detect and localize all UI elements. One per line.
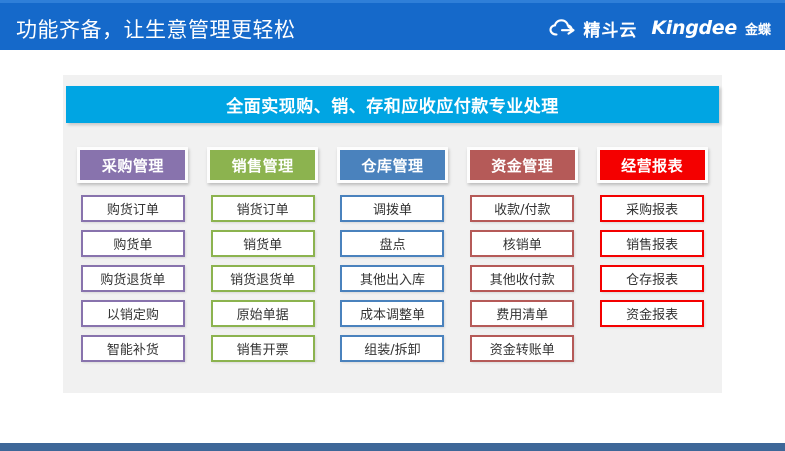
module-item-label: 其他出入库 [360, 269, 425, 288]
module-column-header-label: 采购管理 [102, 155, 164, 176]
module-item[interactable]: 采购报表 [600, 195, 704, 222]
module-item[interactable]: 销货退货单 [211, 265, 315, 292]
content-panel: 全面实现购、销、存和应收应付款专业处理 采购管理购货订单购货单购货退货单以销定购… [63, 75, 722, 393]
module-item-label: 销货订单 [237, 199, 289, 218]
page-header: 功能齐备，让生意管理更轻松 精斗云 Kingdee 金蝶 [0, 3, 785, 50]
module-item[interactable]: 智能补货 [81, 335, 185, 362]
module-column: 仓库管理调拨单盘点其他出入库成本调整单组装/拆卸 [328, 147, 458, 370]
module-column: 采购管理购货订单购货单购货退货单以销定购智能补货 [68, 147, 198, 370]
module-column-header-label: 仓库管理 [361, 155, 423, 176]
module-item[interactable]: 收款/付款 [470, 195, 574, 222]
module-item[interactable]: 其他出入库 [340, 265, 444, 292]
module-item-label: 销售报表 [626, 234, 678, 253]
module-item-label: 购货订单 [107, 199, 159, 218]
module-item-label: 费用清单 [496, 304, 548, 323]
module-item[interactable]: 资金转账单 [470, 335, 574, 362]
module-item[interactable]: 以销定购 [81, 300, 185, 327]
module-item-label: 其他收付款 [490, 269, 555, 288]
module-item[interactable]: 销售开票 [211, 335, 315, 362]
brand-logo: 精斗云 Kingdee 金蝶 [549, 15, 771, 41]
module-item[interactable]: 核销单 [470, 230, 574, 257]
module-columns: 采购管理购货订单购货单购货退货单以销定购智能补货销售管理销货订单销货单销货退货单… [68, 147, 717, 370]
module-item[interactable]: 购货订单 [81, 195, 185, 222]
module-item-label: 购货单 [113, 234, 152, 253]
module-item[interactable]: 购货单 [81, 230, 185, 257]
module-column-header[interactable]: 采购管理 [77, 147, 188, 183]
module-column-header-label: 经营报表 [621, 155, 683, 176]
module-item-label: 资金转账单 [490, 339, 555, 358]
module-item-label: 采购报表 [626, 199, 678, 218]
module-item-label: 销货退货单 [230, 269, 295, 288]
module-item-label: 智能补货 [107, 339, 159, 358]
section-banner-text: 全面实现购、销、存和应收应付款专业处理 [226, 92, 559, 117]
module-item[interactable]: 销售报表 [600, 230, 704, 257]
module-item[interactable]: 仓存报表 [600, 265, 704, 292]
module-item-label: 销售开票 [237, 339, 289, 358]
module-item[interactable]: 其他收付款 [470, 265, 574, 292]
module-item[interactable]: 原始单据 [211, 300, 315, 327]
module-item[interactable]: 盘点 [340, 230, 444, 257]
module-item[interactable]: 组装/拆卸 [340, 335, 444, 362]
module-column: 资金管理收款/付款核销单其他收付款费用清单资金转账单 [457, 147, 587, 370]
module-item[interactable]: 资金报表 [600, 300, 704, 327]
module-item-label: 收款/付款 [494, 199, 550, 218]
module-item-label: 销货单 [243, 234, 282, 253]
module-item[interactable]: 成本调整单 [340, 300, 444, 327]
module-item[interactable]: 销货单 [211, 230, 315, 257]
cloud-icon [549, 18, 577, 38]
module-column: 销售管理销货订单销货单销货退货单原始单据销售开票 [198, 147, 328, 370]
page-title: 功能齐备，让生意管理更轻松 [16, 14, 296, 44]
module-item-label: 资金报表 [626, 304, 678, 323]
module-item-label: 购货退货单 [100, 269, 165, 288]
module-item-label: 原始单据 [237, 304, 289, 323]
module-item-label: 调拨单 [373, 199, 412, 218]
brand-english-suffix: 金蝶 [745, 19, 771, 38]
module-item-label: 成本调整单 [360, 304, 425, 323]
brand-chinese-name: 精斗云 [583, 16, 637, 41]
module-item-label: 仓存报表 [626, 269, 678, 288]
module-column-header[interactable]: 仓库管理 [337, 147, 448, 183]
brand-english-name: Kingdee [651, 17, 737, 39]
module-item-label: 核销单 [503, 234, 542, 253]
module-column-header-label: 资金管理 [491, 155, 553, 176]
module-column-header-label: 销售管理 [232, 155, 294, 176]
module-column: 经营报表采购报表销售报表仓存报表资金报表 [587, 147, 717, 370]
module-item[interactable]: 购货退货单 [81, 265, 185, 292]
module-item-label: 盘点 [379, 234, 405, 253]
module-item-label: 组装/拆卸 [364, 339, 420, 358]
section-banner: 全面实现购、销、存和应收应付款专业处理 [66, 86, 719, 123]
module-item[interactable]: 销货订单 [211, 195, 315, 222]
bottom-accent-bar [0, 443, 785, 451]
module-column-header[interactable]: 经营报表 [597, 147, 708, 183]
module-item[interactable]: 费用清单 [470, 300, 574, 327]
module-column-header[interactable]: 资金管理 [467, 147, 578, 183]
module-item[interactable]: 调拨单 [340, 195, 444, 222]
module-column-header[interactable]: 销售管理 [207, 147, 318, 183]
module-item-label: 以销定购 [107, 304, 159, 323]
